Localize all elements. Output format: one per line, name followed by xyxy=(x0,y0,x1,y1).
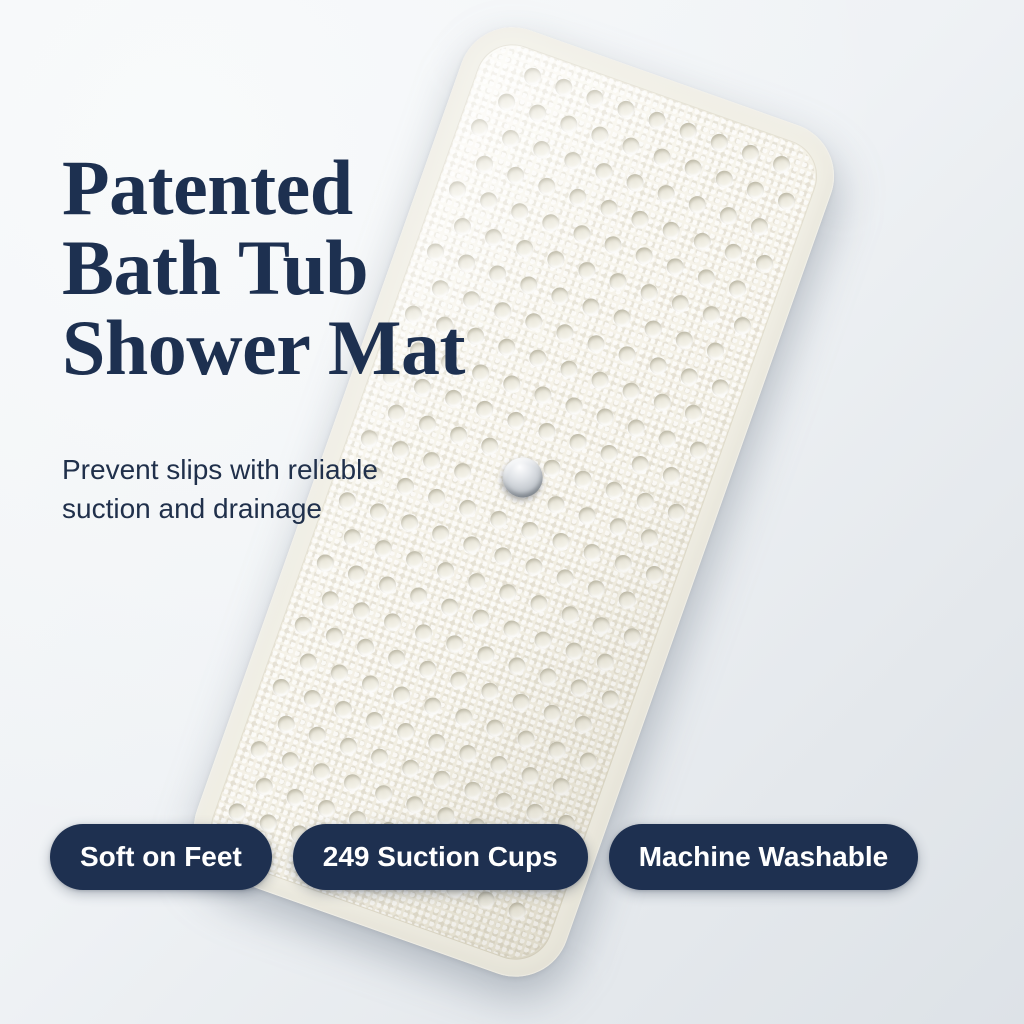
drain-hole xyxy=(475,889,497,911)
drain-hole xyxy=(607,271,629,293)
drain-hole xyxy=(581,541,603,563)
drain-hole xyxy=(713,168,735,190)
drain-hole xyxy=(656,428,678,450)
drain-hole xyxy=(603,479,625,501)
drain-hole xyxy=(342,772,364,794)
drain-hole xyxy=(661,465,683,487)
drain-hole xyxy=(585,333,607,355)
drain-hole xyxy=(678,366,700,388)
drain-hole xyxy=(479,680,501,702)
drain-hole xyxy=(594,406,616,428)
drain-hole xyxy=(611,307,633,329)
feature-badge-row: Soft on Feet 249 Suction Cups Machine Wa… xyxy=(0,823,1024,891)
drain-hole xyxy=(492,545,514,567)
drain-hole xyxy=(563,640,585,662)
drain-hole xyxy=(226,801,248,823)
drain-hole xyxy=(559,604,581,626)
drain-hole xyxy=(621,626,643,648)
drain-hole xyxy=(624,172,646,194)
drain-hole xyxy=(359,428,381,450)
badge-suction-cups[interactable]: 249 Suction Cups xyxy=(293,824,588,890)
drain-hole xyxy=(722,241,744,263)
drain-hole xyxy=(279,750,301,772)
drain-hole xyxy=(577,750,599,772)
drain-hole xyxy=(651,391,673,413)
badge-machine-washable[interactable]: Machine Washable xyxy=(609,824,918,890)
drain-hole xyxy=(696,267,718,289)
drain-hole xyxy=(700,304,722,326)
drain-hole xyxy=(306,724,328,746)
headline-line-1: Patented xyxy=(62,148,582,228)
drain-hole xyxy=(731,315,753,337)
drain-hole xyxy=(484,717,506,739)
subheading-line-1: Prevent slips with reliable xyxy=(62,450,482,489)
drain-hole xyxy=(554,567,576,589)
drain-hole xyxy=(585,578,607,600)
drain-hole xyxy=(602,234,624,256)
drain-hole xyxy=(487,508,509,530)
drain-hole xyxy=(546,739,568,761)
drain-hole xyxy=(775,190,797,212)
drain-hole xyxy=(651,146,673,168)
drain-hole xyxy=(550,776,572,798)
drain-hole xyxy=(682,157,704,179)
drain-hole xyxy=(638,527,660,549)
drain-hole xyxy=(275,713,297,735)
drain-hole xyxy=(368,746,390,768)
drain-hole xyxy=(465,571,487,593)
drain-hole xyxy=(771,154,793,176)
drain-hole xyxy=(563,395,585,417)
drain-hole xyxy=(253,775,275,797)
drain-hole xyxy=(297,651,319,673)
drain-hole xyxy=(647,355,669,377)
drain-hole xyxy=(355,636,377,658)
drain-hole xyxy=(248,739,270,761)
drain-hole xyxy=(506,900,528,922)
drain-hole xyxy=(501,618,523,640)
drain-hole xyxy=(705,340,727,362)
drain-hole xyxy=(524,801,546,823)
drain-hole xyxy=(576,505,598,527)
subheading-line-2: suction and drainage xyxy=(62,489,482,528)
drain-hole xyxy=(536,421,558,443)
drain-hole xyxy=(541,703,563,725)
drain-hole xyxy=(461,534,483,556)
drain-hole xyxy=(642,318,664,340)
drain-hole xyxy=(474,399,496,421)
drain-hole xyxy=(572,714,594,736)
drain-hole xyxy=(319,589,341,611)
drain-hole xyxy=(453,706,475,728)
drain-hole xyxy=(505,410,527,432)
drain-hole xyxy=(646,110,668,132)
headline-line-2: Bath Tub xyxy=(62,228,582,308)
drain-hole xyxy=(589,369,611,391)
drain-hole xyxy=(708,132,730,154)
drain-hole xyxy=(568,677,590,699)
drain-hole xyxy=(337,735,359,757)
drain-hole xyxy=(341,527,363,549)
drain-hole xyxy=(386,647,408,669)
drain-hole xyxy=(314,552,336,574)
drain-hole xyxy=(537,666,559,688)
drain-hole xyxy=(324,625,346,647)
drain-hole xyxy=(439,596,461,618)
drain-hole xyxy=(598,197,620,219)
drain-hole xyxy=(399,757,421,779)
drain-hole xyxy=(372,538,394,560)
subheading: Prevent slips with reliable suction and … xyxy=(62,450,482,528)
drain-hole xyxy=(270,677,292,699)
drain-hole xyxy=(385,402,407,424)
drain-hole xyxy=(302,688,324,710)
drain-hole xyxy=(447,424,469,446)
drain-hole xyxy=(687,439,709,461)
drain-hole xyxy=(643,563,665,585)
drain-hole xyxy=(633,245,655,267)
drain-hole xyxy=(638,282,660,304)
drain-hole xyxy=(594,651,616,673)
drain-hole xyxy=(607,516,629,538)
drain-hole xyxy=(718,205,740,227)
drain-hole xyxy=(523,556,545,578)
drain-hole xyxy=(417,658,439,680)
drain-hole xyxy=(412,622,434,644)
drain-hole xyxy=(416,413,438,435)
drain-hole xyxy=(350,600,372,622)
drain-hole xyxy=(744,179,766,201)
drain-hole xyxy=(589,124,611,146)
drain-hole xyxy=(430,768,452,790)
drain-hole xyxy=(403,549,425,571)
drain-hole xyxy=(497,582,519,604)
drain-hole xyxy=(584,87,606,109)
drain-hole xyxy=(495,91,517,113)
drain-hole xyxy=(593,161,615,183)
drain-hole xyxy=(381,611,403,633)
drain-hole xyxy=(443,633,465,655)
drain-hole xyxy=(620,135,642,157)
drain-hole xyxy=(677,121,699,143)
drain-hole xyxy=(553,76,575,98)
drain-hole xyxy=(691,230,713,252)
drain-hole xyxy=(686,194,708,216)
drain-hole xyxy=(580,296,602,318)
drain-hole xyxy=(500,128,522,150)
drain-hole xyxy=(660,219,682,241)
drain-hole xyxy=(346,563,368,585)
drain-hole xyxy=(709,377,731,399)
drain-hole xyxy=(404,794,426,816)
drain-hole xyxy=(616,589,638,611)
drain-hole xyxy=(328,662,350,684)
drain-hole xyxy=(655,183,677,205)
drain-hole xyxy=(673,329,695,351)
drain-hole xyxy=(541,457,563,479)
drain-hole xyxy=(311,761,333,783)
drain-hole xyxy=(462,779,484,801)
drain-hole xyxy=(629,454,651,476)
drain-hole xyxy=(333,699,355,721)
drain-hole xyxy=(727,278,749,300)
page-title: Patented Bath Tub Shower Mat xyxy=(62,148,582,388)
drain-hole xyxy=(740,143,762,165)
drain-hole xyxy=(557,113,579,135)
drain-hole xyxy=(469,117,491,139)
drain-hole xyxy=(448,669,470,691)
drain-hole xyxy=(683,402,705,424)
promo-canvas: Patented Bath Tub Shower Mat Prevent sli… xyxy=(0,0,1024,1024)
drain-hole xyxy=(625,417,647,439)
drain-hole xyxy=(753,252,775,274)
badge-soft-on-feet[interactable]: Soft on Feet xyxy=(50,824,272,890)
drain-hole xyxy=(749,216,771,238)
drain-hole xyxy=(528,593,550,615)
drain-hole xyxy=(665,501,687,523)
drain-hole xyxy=(634,490,656,512)
drain-hole xyxy=(550,530,572,552)
drain-hole xyxy=(488,754,510,776)
drain-hole xyxy=(519,765,541,787)
drain-hole xyxy=(421,695,443,717)
drain-hole xyxy=(506,655,528,677)
drain-hole xyxy=(612,552,634,574)
drain-hole xyxy=(620,380,642,402)
drain-hole xyxy=(493,790,515,812)
drain-hole xyxy=(426,732,448,754)
drain-hole xyxy=(567,432,589,454)
drain-hole xyxy=(373,783,395,805)
drain-hole xyxy=(664,256,686,278)
drain-hole xyxy=(669,293,691,315)
drain-hole xyxy=(629,208,651,230)
drain-hole xyxy=(616,344,638,366)
drain-hole xyxy=(510,691,532,713)
drain-hole xyxy=(470,607,492,629)
drain-hole xyxy=(599,688,621,710)
drain-hole xyxy=(526,102,548,124)
headline-line-3: Shower Mat xyxy=(62,308,582,388)
drain-hole xyxy=(519,519,541,541)
drain-hole xyxy=(395,721,417,743)
drain-hole xyxy=(545,494,567,516)
drain-hole xyxy=(475,644,497,666)
drain-hole xyxy=(408,585,430,607)
drain-hole xyxy=(532,629,554,651)
drain-hole xyxy=(590,615,612,637)
drain-hole xyxy=(359,673,381,695)
drain-hole xyxy=(315,797,337,819)
drain-hole xyxy=(390,684,412,706)
drain-hole xyxy=(457,743,479,765)
drain-hole xyxy=(515,728,537,750)
drain-hole xyxy=(522,65,544,87)
drain-hole xyxy=(572,468,594,490)
drain-hole xyxy=(292,614,314,636)
drain-hole xyxy=(615,99,637,121)
drain-hole xyxy=(284,786,306,808)
drain-hole xyxy=(598,443,620,465)
drain-hole xyxy=(364,710,386,732)
drain-hole xyxy=(377,574,399,596)
drain-hole xyxy=(434,560,456,582)
